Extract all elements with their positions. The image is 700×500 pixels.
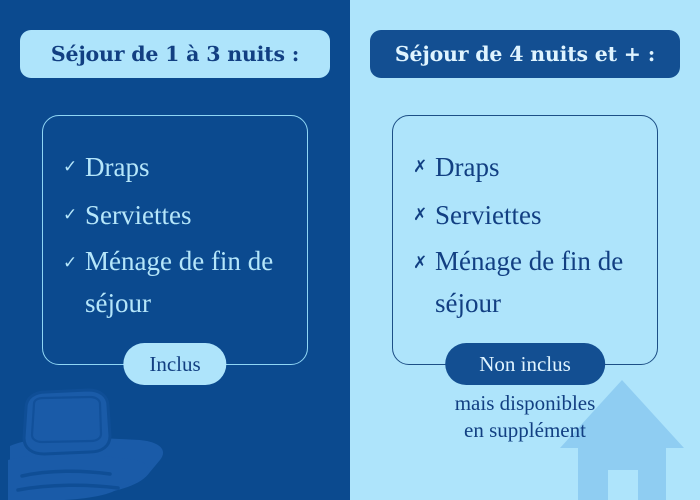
footnote-line-2: en supplément [350, 417, 700, 444]
list-item-label-line1: Ménage de fin [435, 246, 591, 276]
check-mark-icon: ✓ [63, 240, 85, 286]
header-title-short-stay: Séjour de 1 à 3 nuits : [51, 42, 299, 66]
inclusions-list-short-stay: ✓ Draps ✓ Serviettes ✓ Ménage de fin de … [63, 144, 299, 326]
list-item-label: Ménage de fin de séjour [85, 240, 299, 324]
list-item-label: Draps [85, 144, 149, 190]
list-item: ✗ Ménage de fin de séjour [413, 240, 649, 324]
status-badge-included: Inclus [123, 343, 226, 385]
list-item: ✓ Ménage de fin de séjour [63, 240, 299, 324]
list-item-label: Ménage de fin de séjour [435, 240, 649, 324]
cross-mark-icon: ✗ [413, 144, 435, 190]
header-pill-long-stay: Séjour de 4 nuits et + : [370, 30, 680, 78]
header-title-long-stay: Séjour de 4 nuits et + : [395, 42, 655, 66]
comparison-poster: Séjour de 1 à 3 nuits : ✓ Draps ✓ Servie… [0, 0, 700, 500]
list-item-label: Serviettes [85, 192, 191, 238]
cross-mark-icon: ✗ [413, 192, 435, 238]
list-item-label: Serviettes [435, 192, 541, 238]
panel-short-stay: Séjour de 1 à 3 nuits : ✓ Draps ✓ Servie… [0, 0, 350, 500]
cross-mark-icon: ✗ [413, 240, 435, 286]
list-item: ✗ Serviettes [413, 192, 649, 238]
pillow-and-towels-icon [0, 380, 350, 500]
status-badge-label: Inclus [149, 352, 200, 377]
footnote-line-1: mais disponibles [350, 390, 700, 417]
exclusions-card-long-stay: ✗ Draps ✗ Serviettes ✗ Ménage de fin de … [392, 115, 658, 365]
list-item: ✗ Draps [413, 144, 649, 190]
list-item-label: Draps [435, 144, 499, 190]
exclusions-list-long-stay: ✗ Draps ✗ Serviettes ✗ Ménage de fin de … [413, 144, 649, 326]
panel-long-stay: Séjour de 4 nuits et + : ✗ Draps ✗ Servi… [350, 0, 700, 500]
footnote-supplement: mais disponibles en supplément [350, 390, 700, 444]
check-mark-icon: ✓ [63, 192, 85, 238]
status-badge-not-included: Non inclus [445, 343, 605, 385]
check-mark-icon: ✓ [63, 144, 85, 190]
status-badge-label: Non inclus [479, 352, 571, 377]
header-pill-short-stay: Séjour de 1 à 3 nuits : [20, 30, 330, 78]
list-item: ✓ Draps [63, 144, 299, 190]
list-item-label-line1: Ménage de fin [85, 246, 241, 276]
list-item: ✓ Serviettes [63, 192, 299, 238]
inclusions-card-short-stay: ✓ Draps ✓ Serviettes ✓ Ménage de fin de … [42, 115, 308, 365]
